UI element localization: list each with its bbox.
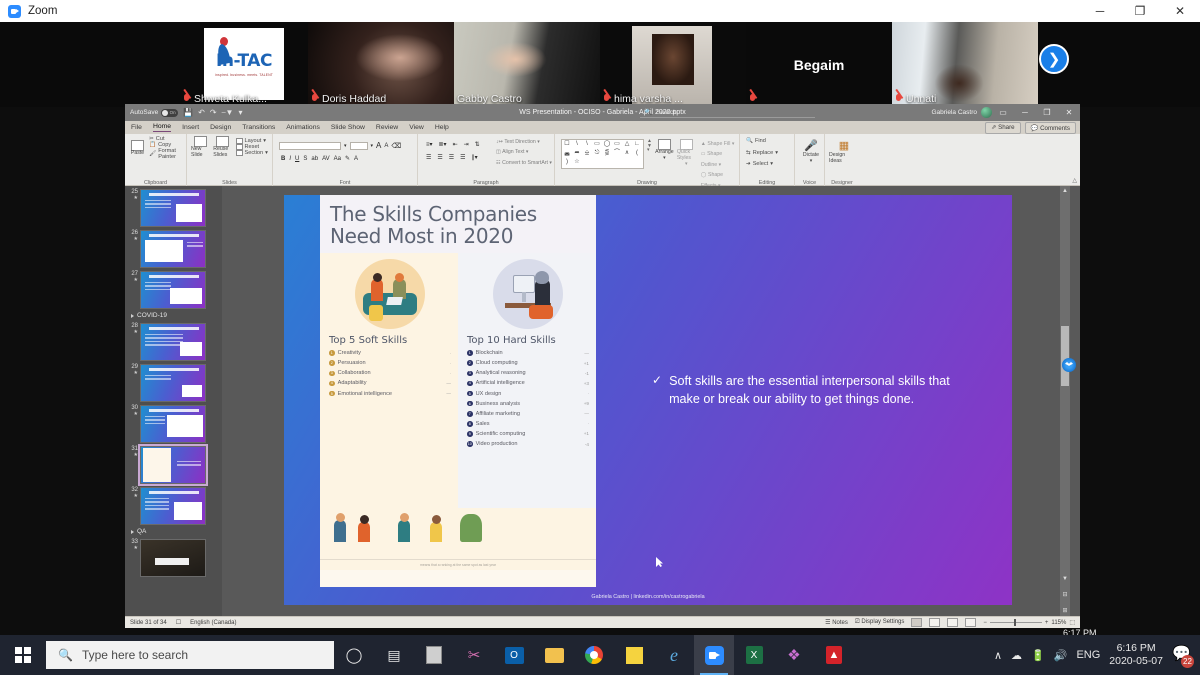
share-icon: ⇗ [991, 124, 996, 131]
quick-styles-button[interactable]: Quick Styles▾ [677, 139, 696, 168]
next-participants-page-button[interactable]: ❯ [1039, 44, 1069, 74]
participant-tile-doris-haddad[interactable]: Doris Haddad [308, 22, 454, 107]
slide-counter[interactable]: Slide 31 of 34 [130, 620, 167, 626]
tab-file[interactable]: File [131, 124, 142, 131]
list-item: 3Analytical reasoning-1 [467, 370, 589, 376]
list-item: 7Affiliate marketing— [467, 411, 589, 417]
powerpoint-titlebar: AutoSave On 💾 ↶ ↷ ⎯▼ ▾ WS Presentation -… [125, 104, 1080, 121]
battery-icon[interactable]: 🔋 [1031, 649, 1045, 662]
mic-muted-icon [603, 94, 611, 105]
list-item: 4Artificial intelligence+3 [467, 380, 589, 386]
thumbnail-number: 30★ [128, 405, 140, 417]
powerpoint-status-bar: Slide 31 of 34 ☐ English (Canada) ☰ Note… [125, 616, 1080, 628]
participant-tile-begaim[interactable]: Begaim [746, 22, 892, 107]
list-item: 2Persuasion· [329, 360, 451, 366]
slide-thumbnail-current[interactable] [140, 446, 206, 484]
design-ideas-icon: ▦ [839, 140, 849, 153]
shapes-gallery[interactable]: ☐\\▭◯▭ △∟◛➦⎒⎋ ⋚⌒∧()☆ [561, 139, 644, 169]
zoom-close-button[interactable]: ✕ [1160, 0, 1200, 22]
taskbar-search-input[interactable]: 🔍 Type here to search [46, 641, 334, 669]
chrome-icon[interactable] [574, 635, 614, 675]
zoom-window-controls: ─ ❐ ✕ [1080, 0, 1200, 22]
shape-fill-icon: ▲ [701, 141, 706, 147]
slide-thumbnail[interactable] [140, 405, 206, 443]
section-icon [236, 150, 243, 156]
current-slide[interactable]: The Skills Companies Need Most in 2020 [284, 195, 1012, 605]
list-item: 10Video production-4 [467, 441, 589, 447]
decrease-font-size-icon[interactable]: A [384, 143, 388, 149]
paste-icon [131, 140, 144, 151]
new-slide-button[interactable]: New Slide [191, 136, 210, 159]
tab-help[interactable]: Help [435, 124, 449, 131]
tab-insert[interactable]: Insert [182, 124, 199, 131]
list-item: 5UX design· [467, 391, 589, 397]
text-direction-icon: ↓↦ [496, 139, 503, 145]
search-icon: 🔍 [644, 108, 652, 116]
windows-logo-icon [15, 647, 31, 663]
show-hidden-icons-icon[interactable]: ∧ [994, 649, 1002, 662]
slide-show-view-button[interactable] [965, 618, 976, 627]
slide-thumbnail[interactable] [140, 487, 206, 525]
scroll-up-arrow-icon[interactable]: ▲ [1060, 186, 1070, 196]
hard-skills-list: 1Blockchain— 2Cloud computing+1 3Analyti… [467, 350, 589, 447]
align-text-icon: ◫ [496, 149, 501, 155]
ribbon-group-editing: 🔍 Find ⇆ Replace ▾ ➔ Select ▾ Editing [740, 134, 795, 186]
undo-icon[interactable]: ↶ [198, 108, 205, 117]
thumbnail-row[interactable]: 25★ [125, 186, 222, 227]
slide-thumbnail[interactable] [140, 539, 206, 577]
smartart-icon: ☷ [496, 160, 501, 166]
ribbon: Paste ✂ Cut 📋 Copy 🖌 Format [125, 134, 1080, 186]
soft-skills-list: 1Creativity· 2Persuasion· 3Collaboration… [329, 350, 451, 396]
infographic-footer-illustration: means that a ranking at the same spot as… [320, 508, 596, 570]
quick-access-toolbar: AutoSave On 💾 ↶ ↷ ⎯▼ ▾ [125, 108, 243, 118]
accessibility-icon[interactable]: ☐ [176, 619, 181, 626]
ribbon-group-designer: ▦ Design Ideas Designer [825, 134, 859, 186]
adobe-reader-icon[interactable]: ▲ [814, 635, 854, 675]
calculator-icon[interactable] [414, 635, 454, 675]
internet-explorer-icon[interactable]: e [654, 635, 694, 675]
participant-tile-hima-varsha[interactable]: hima varsha ... [600, 22, 746, 107]
italic-icon[interactable]: I [289, 156, 291, 162]
list-item: 2Cloud computing+1 [467, 360, 589, 366]
thumbnail-number: 29★ [128, 364, 140, 376]
font-size-dropdown-icon[interactable]: ▾ [371, 143, 374, 149]
zoom-knob[interactable] [1014, 619, 1016, 626]
shape-outline-icon: ▭ [701, 151, 706, 157]
powerpoint-window: AutoSave On 💾 ↶ ↷ ⎯▼ ▾ WS Presentation -… [125, 104, 1080, 628]
zoom-track[interactable] [990, 622, 1042, 623]
infographic-image[interactable]: The Skills Companies Need Most in 2020 [320, 195, 596, 587]
shape-outline-button[interactable]: ▭ Shape Outline ▾ [701, 149, 735, 170]
ppt-close-button[interactable]: ✕ [1058, 104, 1080, 121]
find-button[interactable]: 🔍 Find [746, 136, 790, 148]
clock-date: 2020-05-07 [1109, 655, 1163, 668]
checkmark-icon: ✓ [652, 373, 662, 409]
display-settings-button[interactable]: ⎚ Display Settings [855, 619, 905, 626]
system-tray: ∧ ☁ 🔋 🔊 ENG 6:16 PM 2020-05-07 💬 22 [994, 642, 1200, 668]
status-right-group: ☰ Notes ⎚ Display Settings − + 115% ⬚ [825, 618, 1075, 627]
font-name-input[interactable] [279, 142, 341, 150]
ribbon-tabs: File Home Insert Design Transitions Anim… [125, 121, 1080, 134]
outlook-icon[interactable]: O [494, 635, 534, 675]
hard-skills-column: Top 10 Hard Skills 1Blockchain— 2Cloud c… [458, 253, 596, 508]
format-painter-button[interactable]: 🖌 Format Painter [149, 148, 182, 160]
save-icon[interactable]: 💾 [183, 108, 193, 117]
powerpoint-workspace: 25★ 26★ 27★ [125, 186, 1080, 616]
previous-slide-button[interactable]: ⊟ [1060, 590, 1070, 600]
thumbnail-number: 31★ [128, 446, 140, 458]
design-ideas-button[interactable]: ▦ Design Ideas [829, 140, 859, 165]
collapse-triangle-icon [131, 314, 134, 318]
notifications-button[interactable]: 💬 22 [1172, 644, 1192, 666]
list-item: 6Business analysis+9 [467, 401, 589, 407]
slide-vertical-scrollbar[interactable]: ▲ ▼ ⊟ ⊞ [1060, 186, 1070, 616]
in-tac-logo-icon: In-TAC inspired. business. meets. TALENT [204, 28, 284, 100]
shapes-more-icon[interactable]: ▾ [647, 148, 652, 153]
section-button[interactable]: Section▾ [236, 150, 268, 156]
font-size-input[interactable] [350, 142, 368, 150]
slide-thumbnail[interactable] [140, 323, 206, 361]
font-name-dropdown-icon[interactable]: ▾ [344, 143, 347, 149]
font-color-icon[interactable]: A [354, 156, 358, 162]
volume-icon[interactable]: 🔊 [1054, 649, 1068, 662]
participant-tile-empty[interactable] [0, 22, 180, 107]
start-button[interactable] [0, 635, 46, 675]
soft-skills-heading: Top 5 Soft Skills [329, 335, 451, 346]
slide-thumbnail[interactable] [140, 230, 206, 268]
zoom-titlebar: Zoom ─ ❐ ✕ [0, 0, 1200, 22]
thumbnail-number: 25★ [128, 189, 140, 201]
reuse-slides-button[interactable]: Reuse Slides [213, 136, 232, 159]
slide-thumbnail[interactable] [140, 364, 206, 402]
language-indicator[interactable]: ENG [1076, 649, 1100, 661]
autosave-switch-icon[interactable]: On [161, 109, 178, 117]
replace-button[interactable]: ⇆ Replace ▾ [746, 148, 790, 160]
ppt-restore-button[interactable]: ❐ [1036, 104, 1058, 121]
paintbrush-icon: 🖌 [149, 151, 156, 157]
slide-thumbnail-pane[interactable]: 25★ 26★ 27★ [125, 186, 222, 616]
zoom-slider[interactable]: − + 115% ⬚ [983, 619, 1075, 626]
zoom-minimize-button[interactable]: ─ [1080, 0, 1120, 22]
search-placeholder: Type here to search [82, 648, 188, 662]
ribbon-group-voice: 🎤 Dictate▾ Voice [795, 134, 825, 186]
strikethrough-icon[interactable]: ab [311, 156, 318, 162]
underline-icon[interactable]: U [295, 156, 299, 162]
text-highlight-color-icon[interactable]: ✎ [345, 155, 350, 162]
align-text-button[interactable]: ◫ Align Text ▾ [496, 147, 552, 157]
shape-fill-button[interactable]: ▲ Shape Fill ▾ [701, 139, 735, 149]
list-item: 5Emotional intelligence— [329, 391, 451, 397]
thumbnail-row[interactable]: 33★ [125, 536, 222, 577]
thumbnail-number: 33★ [128, 539, 140, 551]
display-settings-icon: ⎚ [855, 619, 860, 625]
list-item: 8Sales· [467, 421, 589, 427]
soft-skills-illustration [355, 259, 425, 329]
clear-formatting-icon[interactable]: ⌫ [391, 142, 401, 150]
ppt-minimize-button[interactable]: ─ [1014, 104, 1036, 121]
paste-button[interactable]: Paste [129, 140, 146, 157]
numbering-icon[interactable]: ≣▾ [439, 141, 447, 148]
zoom-maximize-button[interactable]: ❐ [1120, 0, 1160, 22]
thumbnail-number: 26★ [128, 230, 140, 242]
zoom-icon[interactable] [694, 635, 734, 675]
justify-icon[interactable]: ☰ [460, 154, 465, 161]
comments-button[interactable]: 💬 Comments [1025, 122, 1076, 134]
hard-skills-heading: Top 10 Hard Skills [467, 335, 589, 346]
clock-time: 6:16 PM [1109, 642, 1163, 655]
change-case-icon[interactable]: Aa [334, 156, 341, 162]
thumbnail-number: 28★ [128, 323, 140, 335]
language-label[interactable]: English (Canada) [190, 620, 236, 626]
search-icon: 🔍 [58, 648, 73, 662]
replace-icon: ⇆ [746, 148, 751, 160]
section-header-qa[interactable]: QA [125, 525, 222, 536]
slide-thumbnail[interactable] [140, 189, 206, 227]
list-item: 9Scientific computing+1 [467, 431, 589, 437]
convert-to-smartart-button[interactable]: ☷ Convert to SmartArt ▾ [496, 158, 552, 168]
mic-muted-icon [311, 94, 319, 105]
zoom-participant-strip: In-TAC inspired. business. meets. TALENT… [0, 22, 1200, 107]
sticky-notes-icon[interactable] [614, 635, 654, 675]
text-direction-button[interactable]: ↓↦ Text Direction ▾ [496, 137, 552, 147]
participant-display-name: Begaim [746, 22, 892, 107]
columns-icon[interactable]: ∥▾ [472, 154, 478, 161]
hard-skills-illustration [493, 259, 563, 329]
decrease-indent-icon[interactable]: ⇤ [453, 141, 458, 148]
ribbon-group-paragraph: ≡▾ ≣▾ ⇤ ⇥ ⇅ ☰ ☰ ☰ ☰ ∥▾ ↓↦ Text Directio [418, 134, 555, 186]
zoom-application-window: Zoom ─ ❐ ✕ In-TAC inspired. business. me… [0, 0, 1200, 675]
mic-muted-icon [895, 94, 903, 105]
snip-icon[interactable]: ✂ [454, 635, 494, 675]
thumbnail-row-selected[interactable]: 31★ [125, 443, 222, 484]
search-box[interactable]: 🔍 Search [640, 107, 815, 118]
ribbon-group-font: ▾ ▾ A A ⌫ B I U S ab AV Aa ✎ A [273, 134, 418, 186]
autosave-label: AutoSave [130, 109, 158, 116]
cursor-icon: ➔ [746, 159, 751, 171]
text-shadow-icon[interactable]: S [303, 156, 307, 162]
customize-qat-icon[interactable]: ▾ [238, 108, 242, 117]
notes-button[interactable]: ☰ Notes [825, 619, 848, 626]
thumbnail-row[interactable]: 29★ [125, 361, 222, 402]
select-button[interactable]: ➔ Select ▾ [746, 159, 790, 171]
fit-slide-to-window-icon[interactable]: ⬚ [1069, 619, 1075, 626]
participant-tile-shweta-kulkarni[interactable]: In-TAC inspired. business. meets. TALENT… [180, 22, 308, 107]
zoom-out-button[interactable]: − [983, 620, 987, 626]
redo-icon[interactable]: ↷ [210, 108, 217, 117]
excel-icon[interactable]: X [734, 635, 774, 675]
comment-icon: 💬 [1031, 125, 1039, 132]
copy-icon: 📋 [149, 142, 156, 148]
infographic-title: The Skills Companies Need Most in 2020 [330, 204, 586, 247]
soft-skills-column: Top 5 Soft Skills 1Creativity· 2Persuasi… [320, 253, 458, 508]
tab-review[interactable]: Review [376, 124, 398, 131]
align-center-icon[interactable]: ☰ [437, 154, 442, 161]
ribbon-group-slides: New Slide Reuse Slides Layout▾ Res [187, 134, 273, 186]
slide-body-text[interactable]: ✓ Soft skills are the essential interper… [652, 373, 952, 409]
microphone-icon: 🎤 [804, 140, 818, 153]
dropbox-icon[interactable] [1062, 358, 1076, 372]
tab-design[interactable]: Design [210, 124, 231, 131]
task-view-icon[interactable]: ▤ [374, 635, 414, 675]
mic-muted-icon [183, 94, 191, 105]
normal-view-button[interactable] [911, 618, 922, 627]
align-right-icon[interactable]: ☰ [449, 154, 454, 161]
scrollbar-thumb[interactable] [1061, 326, 1069, 386]
increase-indent-icon[interactable]: ⇥ [464, 141, 469, 148]
slide-bullet-text: Soft skills are the essential interperso… [669, 373, 952, 409]
participant-tile-gabby-castro-active-speaker[interactable]: Gabby Castro [454, 22, 600, 107]
thumbnail-row[interactable]: 30★ [125, 402, 222, 443]
list-item: 4Adaptability— [329, 380, 451, 386]
zoom-level-label[interactable]: 115% [1051, 620, 1066, 626]
ribbon-display-options-icon[interactable]: ▭ [992, 104, 1014, 121]
bold-icon[interactable]: B [281, 156, 285, 162]
share-button[interactable]: ⇗ Share [985, 122, 1020, 134]
list-item: 1Blockchain— [467, 350, 589, 356]
thumbnail-number: 27★ [128, 271, 140, 283]
tab-slide-show[interactable]: Slide Show [331, 124, 365, 131]
infographic-note: means that a ranking at the same spot as… [320, 563, 596, 567]
infographic-columns: Top 5 Soft Skills 1Creativity· 2Persuasi… [320, 253, 596, 508]
increase-font-size-icon[interactable]: A [376, 141, 381, 150]
line-spacing-icon[interactable]: ⇅ [475, 141, 480, 148]
ribbon-group-drawing: ☐\\▭◯▭ △∟◛➦⎒⎋ ⋚⌒∧()☆ ▲ ▼ ▾ Arrange▾ [555, 134, 740, 186]
share-comments-group: ⇗ Share 💬 Comments [985, 122, 1076, 134]
windows-taskbar: 🔍 Type here to search ◯ ▤ ✂ O e X ❖ ▲ ∧ … [0, 635, 1200, 675]
align-left-icon[interactable]: ☰ [426, 154, 431, 161]
notes-icon: ☰ [825, 620, 830, 626]
autosave-toggle[interactable]: AutoSave On [130, 109, 178, 117]
zoom-in-button[interactable]: + [1045, 620, 1049, 626]
thumbnail-row[interactable]: 27★ [125, 268, 222, 309]
participant-tile-unnati[interactable]: Unnati [892, 22, 1038, 107]
next-slide-button[interactable]: ⊞ [1060, 606, 1070, 616]
slide-sorter-view-button[interactable] [929, 618, 940, 627]
notification-count-badge: 22 [1181, 655, 1194, 668]
file-explorer-icon[interactable] [534, 635, 574, 675]
avatar[interactable] [981, 107, 992, 118]
list-item: 3Collaboration· [329, 370, 451, 376]
tab-animations[interactable]: Animations [286, 124, 320, 131]
collapse-ribbon-icon[interactable]: △ [1072, 177, 1077, 184]
zoom-app-title: Zoom [28, 5, 57, 17]
ribbon-group-clipboard: Paste ✂ Cut 📋 Copy 🖌 Format [125, 134, 187, 186]
start-presentation-icon[interactable]: ⎯▼ [222, 108, 234, 118]
arrange-button[interactable]: Arrange▾ [655, 139, 674, 162]
shape-effects-icon: ◯ [701, 172, 707, 178]
thumbnail-row[interactable]: 32★ [125, 484, 222, 525]
slide-editing-area[interactable]: The Skills Companies Need Most in 2020 [222, 186, 1070, 616]
thumbnail-row[interactable]: 26★ [125, 227, 222, 268]
paint-3d-icon[interactable]: ❖ [774, 635, 814, 675]
onedrive-icon[interactable]: ☁ [1011, 649, 1022, 662]
scroll-down-arrow-icon[interactable]: ▼ [1060, 574, 1070, 584]
account-info[interactable]: Gabriela Castro [931, 107, 992, 118]
collapse-triangle-icon [131, 530, 134, 534]
zoom-logo-icon [8, 5, 21, 18]
list-item: 1Creativity· [329, 350, 451, 356]
slide-thumbnail[interactable] [140, 271, 206, 309]
tab-transitions[interactable]: Transitions [242, 124, 275, 131]
reading-view-button[interactable] [947, 618, 958, 627]
taskbar-clock[interactable]: 6:16 PM 2020-05-07 [1109, 642, 1163, 668]
thumbnail-number: 32★ [128, 487, 140, 499]
section-header-covid-19[interactable]: COVID-19 [125, 309, 222, 320]
tab-home[interactable]: Home [153, 123, 171, 132]
bullets-icon[interactable]: ≡▾ [426, 141, 433, 148]
search-icon: 🔍 [746, 136, 753, 148]
thumbnail-row[interactable]: 28★ [125, 320, 222, 361]
slide-footer-credit: Gabriela Castro | linkedin.com/in/castro… [284, 594, 1012, 600]
user-name-label: Gabriela Castro [931, 109, 977, 116]
tab-view[interactable]: View [409, 124, 424, 131]
character-spacing-icon[interactable]: AV [322, 156, 330, 162]
dictate-button[interactable]: 🎤 Dictate▾ [799, 140, 823, 165]
infographic-header: The Skills Companies Need Most in 2020 [320, 195, 596, 253]
cortana-icon[interactable]: ◯ [334, 635, 374, 675]
search-placeholder: Search [656, 109, 677, 116]
powerpoint-window-controls: ▭ ─ ❐ ✕ [992, 104, 1080, 121]
